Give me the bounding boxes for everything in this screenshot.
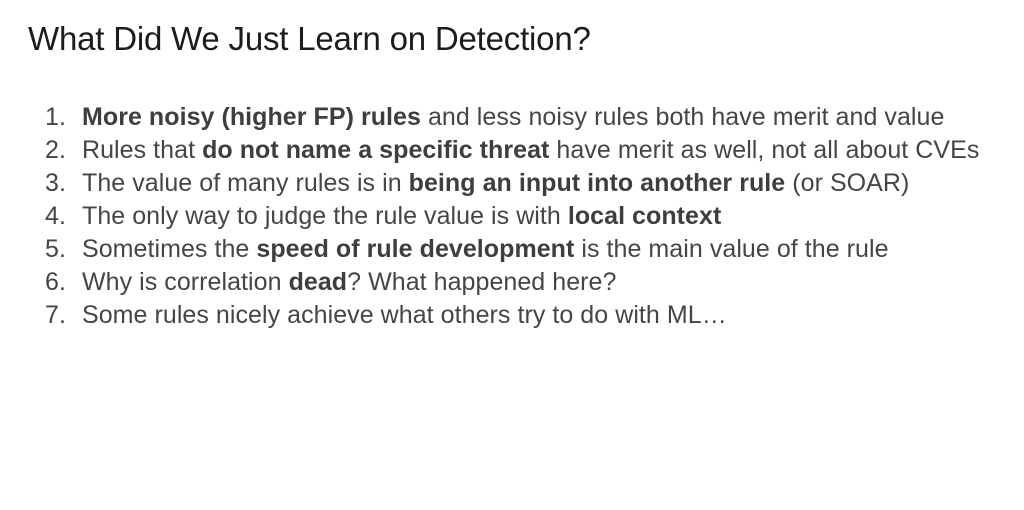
list-item: 3.The value of many rules is in being an… (28, 167, 980, 200)
list-item-text: Sometimes the speed of rule development … (82, 233, 980, 266)
list-item-number: 3. (28, 167, 66, 200)
emphasis-text: being an input into another rule (409, 169, 786, 197)
numbered-list: 1.More noisy (higher FP) rules and less … (28, 101, 980, 332)
list-item: 4.The only way to judge the rule value i… (28, 200, 980, 233)
list-item-number: 5. (28, 233, 66, 266)
list-item: 6.Why is correlation dead? What happened… (28, 266, 980, 299)
plain-text: Why is correlation (82, 268, 289, 296)
plain-text: (or SOAR) (785, 169, 909, 197)
list-item: 1.More noisy (higher FP) rules and less … (28, 101, 980, 134)
plain-text: Rules that (82, 136, 202, 164)
list-item-number: 7. (28, 299, 66, 332)
list-item-text: Some rules nicely achieve what others tr… (82, 299, 980, 332)
emphasis-text: dead (289, 268, 348, 296)
list-item-number: 6. (28, 266, 66, 299)
plain-text: ? What happened here? (347, 268, 616, 296)
slide-canvas: What Did We Just Learn on Detection? 1.M… (0, 0, 1024, 510)
list-item-number: 4. (28, 200, 66, 233)
plain-text: The value of many rules is in (82, 169, 409, 197)
list-item-text: The only way to judge the rule value is … (82, 200, 980, 233)
list-item-text: Why is correlation dead? What happened h… (82, 266, 980, 299)
list-item: 5.Sometimes the speed of rule developmen… (28, 233, 980, 266)
page-title: What Did We Just Learn on Detection? (28, 18, 988, 60)
list-item-text: More noisy (higher FP) rules and less no… (82, 101, 980, 134)
emphasis-text: local context (568, 202, 721, 230)
emphasis-text: do not name a specific threat (202, 136, 549, 164)
list-item: 2.Rules that do not name a specific thre… (28, 134, 980, 167)
plain-text: is the main value of the rule (574, 235, 888, 263)
list-item-text: The value of many rules is in being an i… (82, 167, 980, 200)
list-item-number: 2. (28, 134, 66, 167)
emphasis-text: More noisy (higher FP) rules (82, 103, 421, 131)
list-item: 7.Some rules nicely achieve what others … (28, 299, 980, 332)
emphasis-text: speed of rule development (256, 235, 574, 263)
list-item-text: Rules that do not name a specific threat… (82, 134, 980, 167)
plain-text: and less noisy rules both have merit and… (421, 103, 944, 131)
list-item-number: 1. (28, 101, 66, 134)
plain-text: Some rules nicely achieve what others tr… (82, 301, 727, 329)
plain-text: Sometimes the (82, 235, 256, 263)
plain-text: The only way to judge the rule value is … (82, 202, 568, 230)
plain-text: have merit as well, not all about CVEs (549, 136, 979, 164)
